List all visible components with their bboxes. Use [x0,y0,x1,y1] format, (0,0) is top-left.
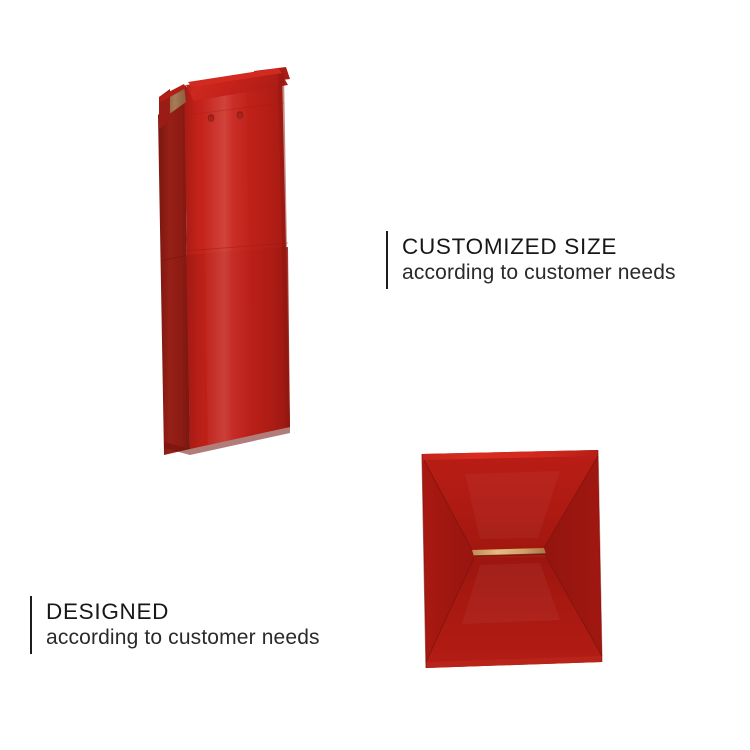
feature-accent-rule [30,596,32,654]
feature-customized-size: CUSTOMIZED SIZE according to customer ne… [386,231,676,289]
feature-subtitle: according to customer needs [402,261,676,286]
product-image-tall-gift-box [150,55,310,465]
feature-title: DESIGNED [46,599,320,624]
eyelet-hole-right-inner-icon [238,113,242,118]
product-feature-graphic: CUSTOMIZED SIZE according to customer ne… [0,0,750,750]
tall-gift-box-illustration [150,55,310,465]
feature-designed: DESIGNED according to customer needs [30,596,320,654]
feature-title: CUSTOMIZED SIZE [402,234,676,259]
feature-text-group: DESIGNED according to customer needs [46,596,320,654]
eyelet-hole-left-inner-icon [209,116,213,121]
feature-accent-rule [386,231,388,289]
product-image-box-bottom [410,440,610,675]
feature-subtitle: according to customer needs [46,626,320,651]
tall-box-gloss-highlight [202,77,252,451]
feature-text-group: CUSTOMIZED SIZE according to customer ne… [402,231,676,289]
box-bottom-illustration [410,440,610,675]
